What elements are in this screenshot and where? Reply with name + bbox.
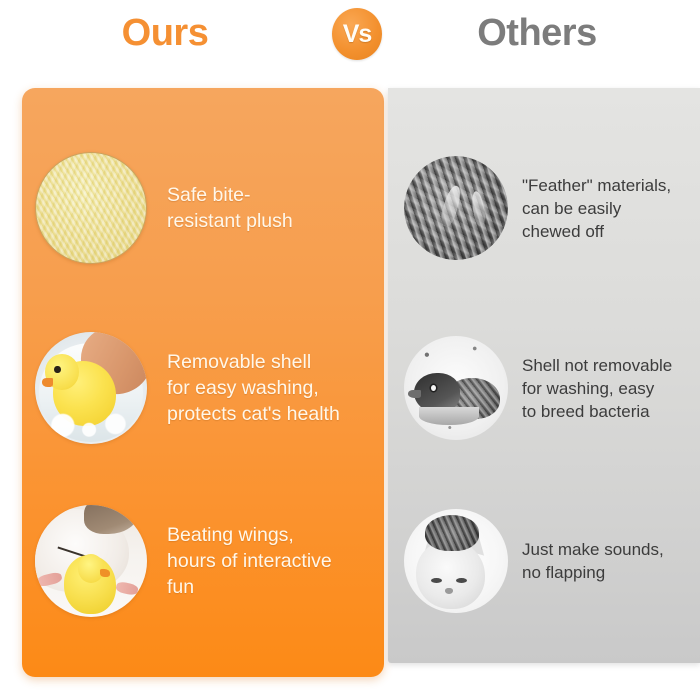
vs-badge: Vs <box>332 8 382 60</box>
others-feature-row-3: Just make sounds, no flapping <box>404 505 694 617</box>
plush-fabric-icon <box>35 152 147 264</box>
bird-nest-toy-thumbnail <box>404 336 508 440</box>
cat-playing-chick-thumbnail <box>35 505 147 617</box>
chick-beak-shape <box>42 378 53 387</box>
ours-heading: Ours <box>0 8 330 58</box>
feather-quill-shape-1 <box>438 184 462 228</box>
vs-badge-label: Vs <box>332 8 382 60</box>
ours-feature-row-1: Safe bite- resistant plush <box>35 152 375 264</box>
ours-feature-row-3: Beating wings, hours of interactive fun <box>35 505 375 617</box>
cat-playing-chick-icon <box>35 505 147 617</box>
cat-head-patch-shape <box>84 505 138 534</box>
comparison-infographic: Ours Vs Others Safe bite- resistant plus… <box>0 0 700 700</box>
feather-texture-icon <box>404 156 508 260</box>
bird-beak-shape <box>408 390 420 398</box>
others-feature-row-2: Shell not removable for washing, easy to… <box>404 333 694 443</box>
comparison-header: Ours Vs Others <box>0 0 700 84</box>
cat-paw-right-shape <box>115 581 139 597</box>
ours-feature-caption-2: Removable shell for easy washing, protec… <box>167 349 375 427</box>
chick-eye-shape <box>54 366 61 374</box>
others-feature-caption-1: "Feather" materials, can be easily chewe… <box>522 174 694 243</box>
cat-eye-left-shape <box>431 578 442 583</box>
plush-fabric-thumbnail <box>35 152 147 264</box>
fluffy-cat-face-icon <box>404 509 508 613</box>
soap-suds-shape <box>44 408 138 437</box>
others-heading: Others <box>392 8 682 58</box>
feather-texture-thumbnail <box>404 156 508 260</box>
cat-eye-right-shape <box>456 578 467 583</box>
chick-washing-thumbnail <box>35 332 147 444</box>
others-feature-row-1: "Feather" materials, can be easily chewe… <box>404 152 694 264</box>
chick-toy-beak-shape <box>100 569 110 577</box>
feather-quill-shape-2 <box>470 191 487 228</box>
bird-nest-toy-icon <box>404 336 508 440</box>
ours-feature-caption-1: Safe bite- resistant plush <box>167 182 375 234</box>
chick-washing-icon <box>35 332 147 444</box>
cat-crown-fur-shape <box>425 515 479 550</box>
others-feature-caption-3: Just make sounds, no flapping <box>522 538 694 584</box>
others-feature-caption-2: Shell not removable for washing, easy to… <box>522 354 694 423</box>
ours-feature-caption-3: Beating wings, hours of interactive fun <box>167 522 375 600</box>
fluffy-cat-face-thumbnail <box>404 509 508 613</box>
ours-feature-row-2: Removable shell for easy washing, protec… <box>35 333 375 443</box>
